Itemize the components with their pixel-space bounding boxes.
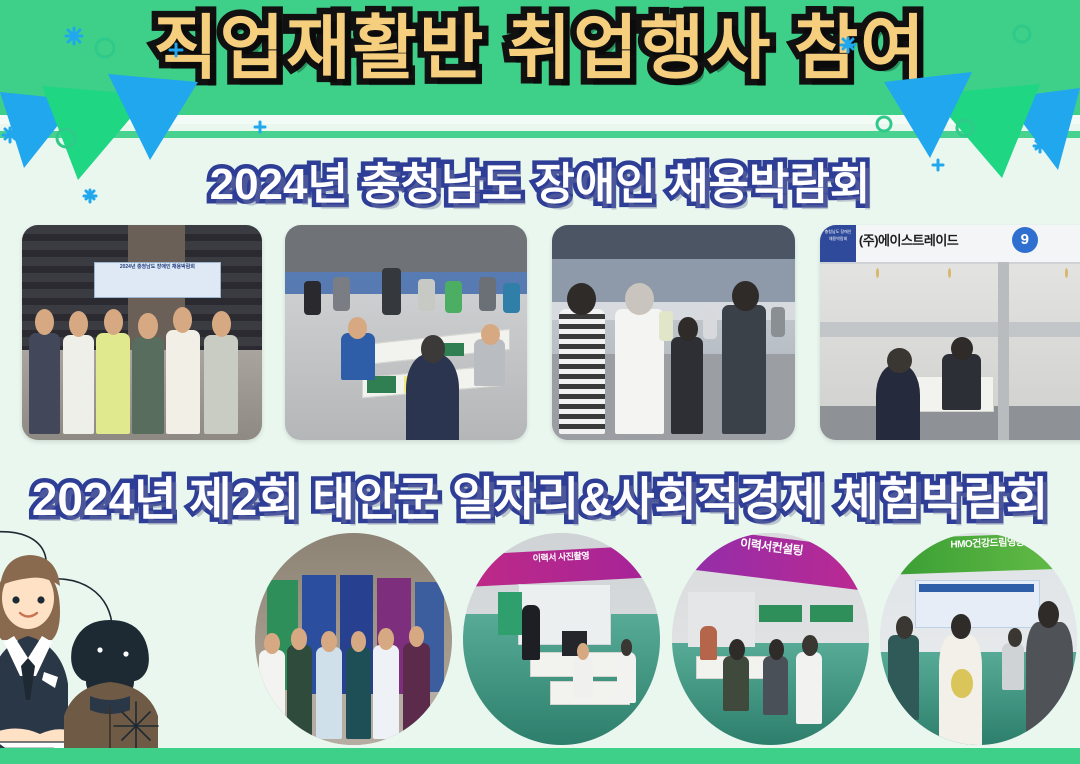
section-1-photo-row: 2024년 충청남도 장애인 채용박람회 xyxy=(0,225,1080,440)
poster-canvas: 직업재활반 취업행사 참여 2024년 충청남도 장애인 채용박람회 xyxy=(0,0,1080,764)
photo-application-writing xyxy=(285,225,527,440)
photo-booth-side-label: 충청남도 장애인 채용박람회 xyxy=(823,229,854,242)
job-interview-illustration xyxy=(0,520,246,764)
photo-group-photo-banner: 2024년 충청남도 장애인 채용박람회 xyxy=(22,225,262,440)
photo-booth-group-photo xyxy=(255,533,452,745)
photo-booth-number-badge: 9 xyxy=(1012,227,1038,253)
footer-green-bar xyxy=(0,748,1080,764)
photo-resume-photo-booth: 이력서 사진촬영 52 xyxy=(463,533,660,745)
photo-banner-text-1: 2024년 충청남도 장애인 채용박람회 xyxy=(94,262,221,298)
photo-booth-name-label: (주)에이스트레이드 xyxy=(859,230,1004,249)
photo-resume-consulting-booth: 이력서컨설팅 xyxy=(672,533,869,745)
photo-hall-consultation xyxy=(552,225,795,440)
page-title: 직업재활반 취업행사 참여 xyxy=(0,8,1080,89)
photo-hmo-health-dream-booth: HMO건강드림영농조합 xyxy=(880,533,1077,745)
section-1-heading: 2024년 충청남도 장애인 채용박람회 xyxy=(0,148,1080,212)
photo-booth-interview: 충청남도 장애인 채용박람회 (주)에이스트레이드 9 xyxy=(820,225,1080,440)
photo-booth-number-52: 52 xyxy=(635,554,644,563)
header-underline-stripe xyxy=(0,131,1080,138)
photo-booth-banner-hmo: HMO건강드림영농조합 xyxy=(891,533,1077,575)
